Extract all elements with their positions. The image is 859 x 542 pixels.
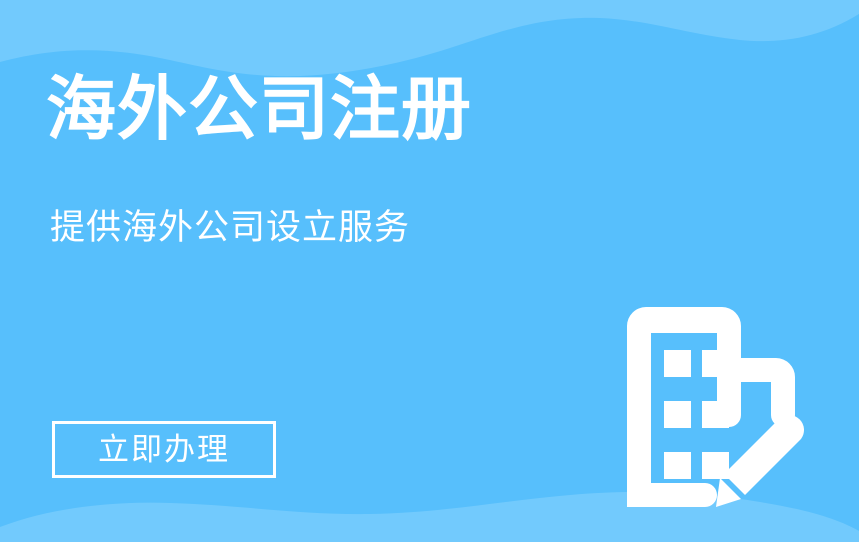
pencil-body-shape: [724, 415, 804, 495]
building-window-r1c1: [664, 350, 691, 377]
top-wave-shape: [0, 0, 859, 76]
building-window-r1c2: [702, 350, 729, 377]
building-with-pencil-icon: [608, 300, 812, 522]
apply-now-button[interactable]: 立即办理: [52, 421, 276, 478]
apply-now-button-label: 立即办理: [98, 434, 230, 465]
building-window-r2c1: [664, 401, 691, 428]
page-subtitle: 提供海外公司设立服务: [50, 210, 410, 245]
building-window-r2c2: [702, 401, 729, 428]
building-window-r3c1: [664, 452, 691, 479]
overseas-company-registration-banner: 海外公司注册 提供海外公司设立服务 立即办理: [0, 0, 859, 542]
page-title: 海外公司注册: [46, 74, 472, 144]
